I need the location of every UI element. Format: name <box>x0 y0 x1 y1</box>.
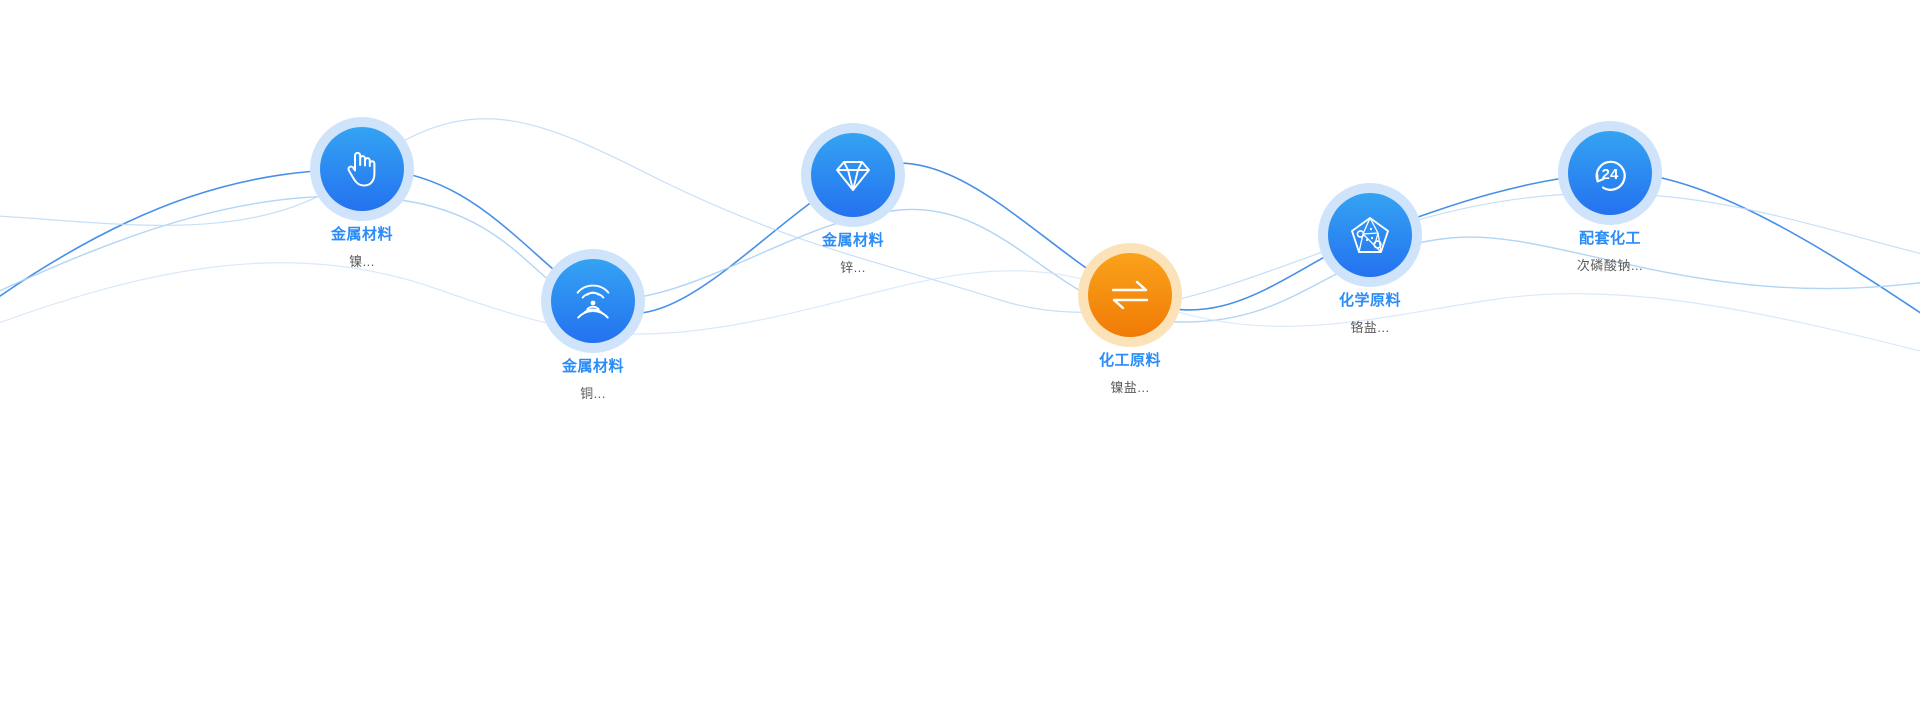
node-disc[interactable] <box>1328 193 1412 277</box>
node-labels: 金属材料镍... <box>331 225 393 271</box>
signal-waves-icon <box>568 276 618 326</box>
node-item-label[interactable]: 锌... <box>822 259 884 277</box>
node-item-label[interactable]: 铬盐... <box>1339 319 1401 337</box>
node-disc[interactable] <box>551 259 635 343</box>
node-item-label[interactable]: 镍盐... <box>1099 379 1161 397</box>
node-labels: 化学原料铬盐... <box>1339 291 1401 337</box>
node-disc[interactable] <box>1568 131 1652 215</box>
node-category-label[interactable]: 配套化工 <box>1577 229 1643 249</box>
hand-pointer-icon <box>337 144 387 194</box>
node-item-label[interactable]: 镍... <box>331 253 393 271</box>
background-curves <box>0 0 1920 718</box>
twentyfour-hours-icon <box>1585 148 1635 198</box>
node-category-label[interactable]: 化学原料 <box>1339 291 1401 311</box>
node-labels: 金属材料锌... <box>822 231 884 277</box>
node-category-label[interactable]: 金属材料 <box>331 225 393 245</box>
node-item-label[interactable]: 铜... <box>562 385 624 403</box>
reversible-reaction-icon <box>1105 270 1155 320</box>
node-disc[interactable] <box>811 133 895 217</box>
industry-chain-diagram: 金属材料镍...金属材料铜...金属材料锌...化工原料镍盐...化学原料铬盐.… <box>0 0 1920 718</box>
node-disc[interactable] <box>320 127 404 211</box>
molecule-pentagon-icon <box>1345 210 1395 260</box>
diamond-icon <box>828 150 878 200</box>
node-labels: 配套化工次磷酸钠... <box>1577 229 1643 275</box>
node-item-label[interactable]: 次磷酸钠... <box>1577 257 1643 275</box>
node-category-label[interactable]: 金属材料 <box>562 357 624 377</box>
node-labels: 金属材料铜... <box>562 357 624 403</box>
node-category-label[interactable]: 化工原料 <box>1099 351 1161 371</box>
node-disc[interactable] <box>1088 253 1172 337</box>
node-category-label[interactable]: 金属材料 <box>822 231 884 251</box>
node-labels: 化工原料镍盐... <box>1099 351 1161 397</box>
curve-light-quaternary <box>0 263 1920 356</box>
